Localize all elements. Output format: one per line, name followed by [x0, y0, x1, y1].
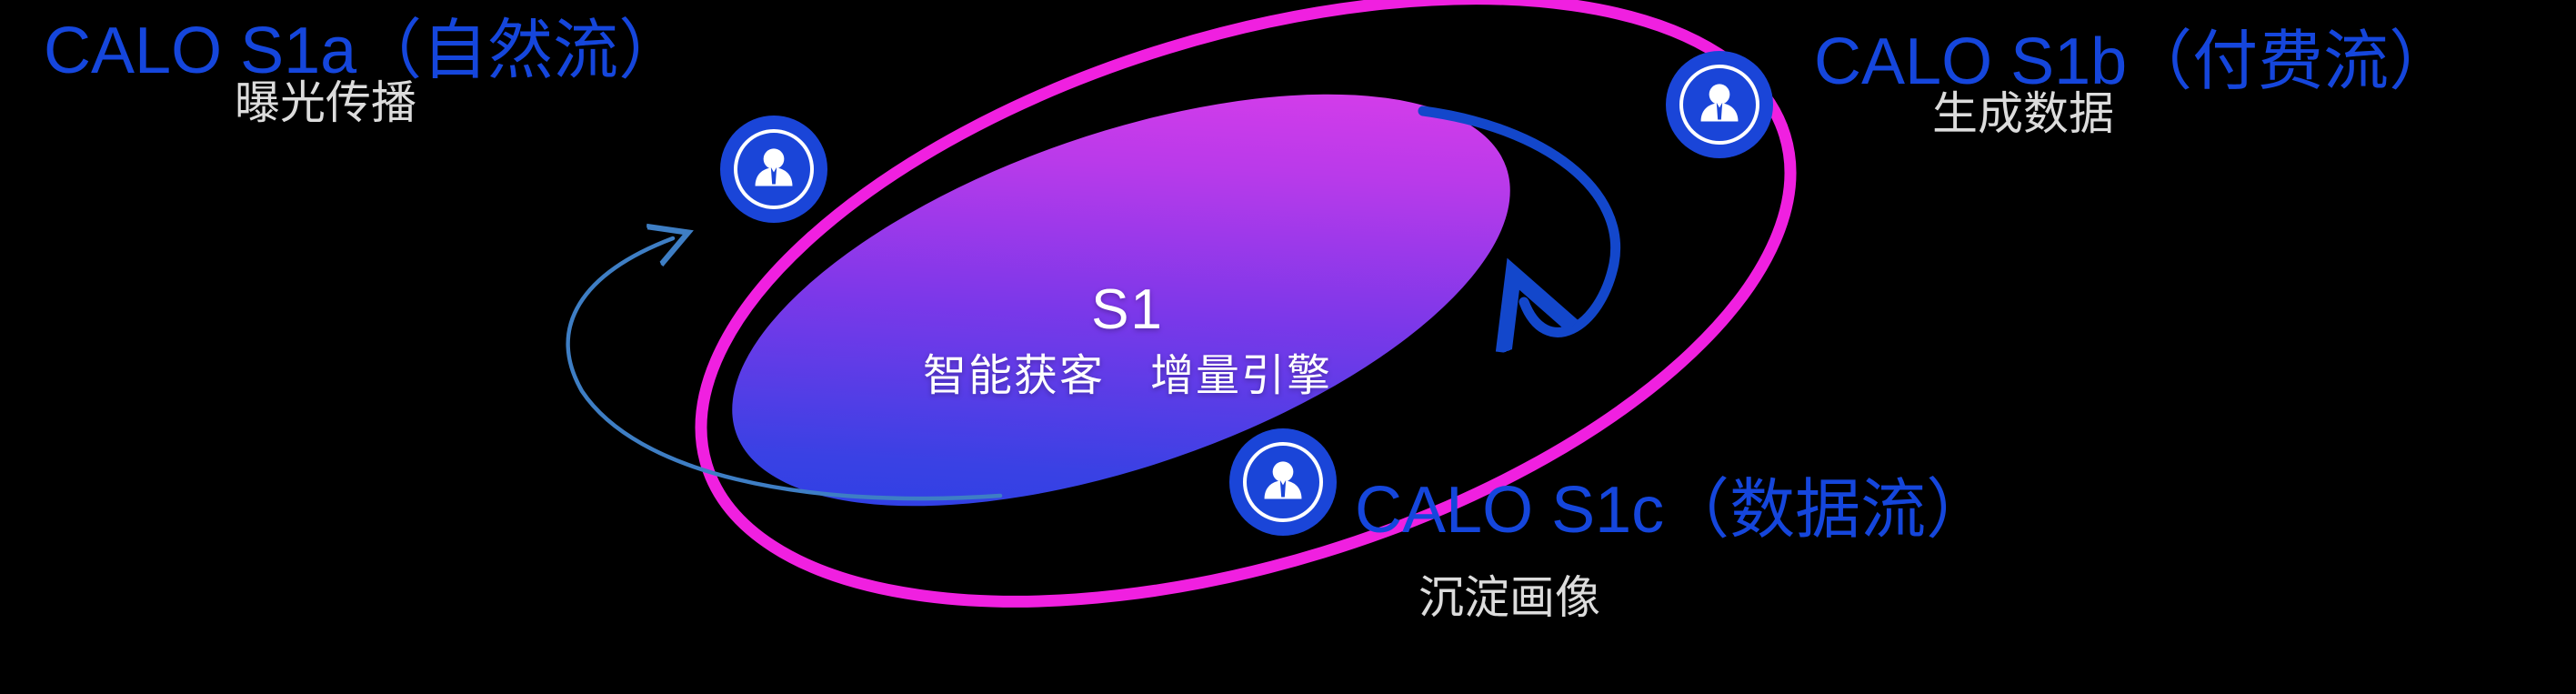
node-s1c[interactable] [1229, 428, 1337, 536]
core-subtitle: 智能获客 增量引擎 [873, 355, 1382, 398]
core-text-group: S1 智能获客 增量引擎 [873, 73, 1382, 373]
core-title: S1 [873, 282, 1382, 338]
node-s1a[interactable] [720, 116, 827, 223]
flow-subtitle-s1c: 沉淀画像 [1418, 575, 1600, 620]
flow-title-s1c: CALO S1c（数据流） [1355, 478, 1991, 543]
diagram-canvas: S1 智能获客 增量引擎 CALO S1a（自然流） 曝光传播 CALO S1b… [0, 0, 2576, 694]
flow-subtitle-s1b: 生成数据 [1932, 91, 2114, 136]
flow-subtitle-s1a: 曝光传播 [235, 80, 416, 126]
node-s1b[interactable] [1666, 51, 1773, 158]
flow-title-s1b: CALO S1b（付费流） [1814, 29, 2454, 95]
flow-title-s1a: CALO S1a（自然流） [44, 18, 684, 84]
